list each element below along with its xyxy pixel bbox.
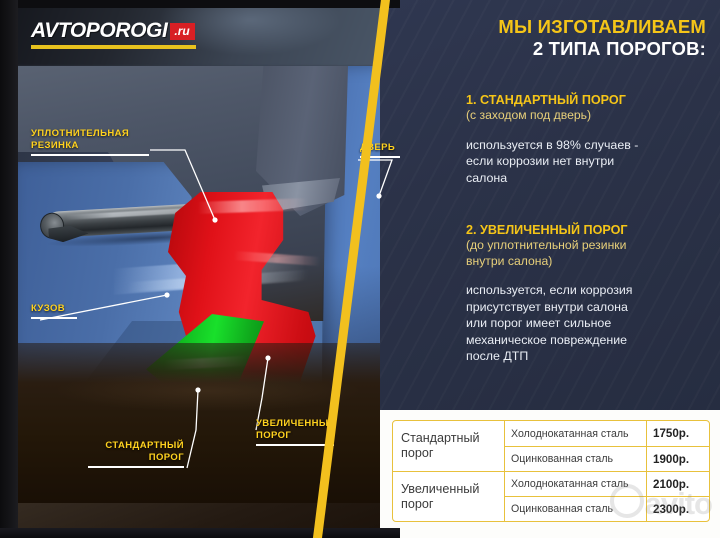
headline: МЫ ИЗГОТАВЛИВАЕМ 2 ТИПА ПОРОГОВ: bbox=[498, 16, 706, 60]
price-material-4: Оцинкованная сталь bbox=[505, 496, 647, 521]
price-row-name-extended: Увеличенный порог bbox=[393, 471, 505, 521]
callout-seal: УПЛОТНИТЕЛЬНАЯ РЕЗИНКА bbox=[31, 128, 153, 156]
price-material-3: Холоднокатанная сталь bbox=[505, 471, 647, 496]
callout-standard-underline bbox=[88, 466, 184, 468]
callout-leader-lines bbox=[0, 0, 400, 538]
site-logo[interactable]: AVTOPOROGI .ru bbox=[31, 19, 196, 49]
callout-body: КУЗОВ bbox=[31, 303, 77, 319]
info-block-standard-body: используется в 98% случаев - если корроз… bbox=[466, 137, 712, 187]
callout-seal-line1: УПЛОТНИТЕЛЬНАЯ bbox=[31, 128, 129, 139]
price-value-1: 1750р. bbox=[647, 421, 709, 446]
promo-banner: УПЛОТНИТЕЛЬНАЯ РЕЗИНКА ДВЕРЬ КУЗОВ СТАНД… bbox=[0, 0, 720, 538]
price-table: Стандартный порог Холоднокатанная сталь … bbox=[392, 420, 710, 522]
info-block-standard-subtitle: (с заходом под дверь) bbox=[466, 108, 712, 124]
callout-body-label: КУЗОВ bbox=[31, 303, 65, 314]
logo-row: AVTOPOROGI .ru bbox=[31, 19, 195, 43]
price-value-2: 1900р. bbox=[647, 446, 709, 471]
callout-standard-line2: ПОРОГ bbox=[149, 452, 184, 463]
callout-standard-line1: СТАНДАРТНЫЙ bbox=[105, 440, 184, 451]
price-value-3: 2100р. bbox=[647, 471, 709, 496]
info-block-standard: 1. СТАНДАРТНЫЙ ПОРОГ (с заходом под двер… bbox=[466, 92, 712, 186]
callout-seal-line2: РЕЗИНКА bbox=[31, 140, 79, 151]
info-block-extended-title: 2. УВЕЛИЧЕННЫЙ ПОРОГ bbox=[466, 222, 712, 238]
price-material-2: Оцинкованная сталь bbox=[505, 446, 647, 471]
callout-standard-sill: СТАНДАРТНЫЙ ПОРОГ bbox=[88, 440, 184, 468]
logo-underline-bar bbox=[31, 45, 196, 49]
price-row-name-standard: Стандартный порог bbox=[393, 421, 505, 471]
callout-extended-line1: УВЕЛИЧЕННЫЙ bbox=[256, 418, 336, 429]
price-value-4: 2300р. bbox=[647, 496, 709, 521]
info-block-extended-subtitle: (до уплотнительной резинки внутри салона… bbox=[466, 238, 712, 269]
callout-body-underline bbox=[31, 317, 77, 319]
logo-wordmark: AVTOPOROGI bbox=[31, 19, 167, 43]
price-material-1: Холоднокатанная сталь bbox=[505, 421, 647, 446]
info-block-standard-title: 1. СТАНДАРТНЫЙ ПОРОГ bbox=[466, 92, 712, 108]
bezel-left bbox=[0, 0, 18, 538]
headline-line1: МЫ ИЗГОТАВЛИВАЕМ bbox=[498, 16, 706, 38]
info-block-extended: 2. УВЕЛИЧЕННЫЙ ПОРОГ (до уплотнительной … bbox=[466, 222, 712, 365]
callout-extended-underline bbox=[256, 444, 334, 446]
callout-extended-line2: ПОРОГ bbox=[256, 430, 291, 441]
bezel-bottom bbox=[0, 528, 400, 538]
logo-tld-badge: .ru bbox=[170, 23, 194, 40]
headline-line2: 2 ТИПА ПОРОГОВ: bbox=[498, 38, 706, 60]
bezel-top bbox=[0, 0, 400, 8]
info-block-extended-body: используется, если коррозия присутствует… bbox=[466, 282, 712, 365]
callout-seal-underline bbox=[31, 154, 149, 156]
